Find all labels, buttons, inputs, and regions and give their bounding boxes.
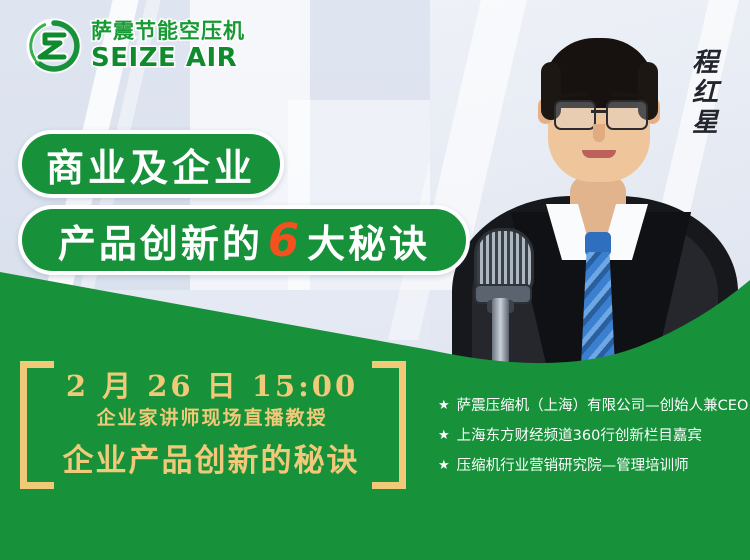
credential-item: ★ 上海东方财经频道360行创新栏目嘉宾 bbox=[438, 426, 743, 447]
bracket-left-stem bbox=[20, 361, 27, 489]
star-icon: ★ bbox=[438, 396, 450, 417]
star-icon: ★ bbox=[438, 426, 450, 447]
bracket-right-bottom-arm bbox=[372, 482, 406, 489]
brand-en-part-b: ZE AIR bbox=[139, 45, 237, 71]
event-datetime: 2 月 26 日 15:00 bbox=[62, 363, 362, 405]
brand-name-en: SEIZE AIR bbox=[91, 45, 245, 71]
credential-text: 压缩机行业营销研究院—管理培训师 bbox=[457, 456, 689, 477]
credential-text: 上海东方财经频道360行创新栏目嘉宾 bbox=[457, 426, 702, 447]
eyeglasses-bridge bbox=[591, 110, 608, 113]
bracket-left-bottom-arm bbox=[20, 482, 54, 489]
credential-item: ★ 压缩机行业营销研究院—管理培训师 bbox=[438, 456, 743, 477]
brand-en-part-i: I bbox=[129, 45, 139, 71]
event-details-block: 2 月 26 日 15:00 企业家讲师现场直播教授 企业产品创新的秘诀 bbox=[18, 355, 408, 495]
brand-en-part-a: SE bbox=[91, 45, 129, 71]
credential-text: 萨震压缩机（上海）有限公司—创始人兼CEO bbox=[457, 396, 749, 417]
headline-line-1: 商业及企业 bbox=[18, 130, 284, 198]
nose bbox=[593, 124, 605, 142]
eyeglasses-lens-right bbox=[606, 100, 648, 130]
star-icon: ★ bbox=[438, 456, 450, 477]
eyeglasses-lens-left bbox=[554, 100, 596, 130]
event-subtitle: 企业家讲师现场直播教授 bbox=[62, 403, 362, 430]
speaker-name-calligraphy: 程 红 星 bbox=[682, 50, 728, 136]
speaker-name-char: 程 bbox=[692, 50, 718, 76]
bracket-left-top-arm bbox=[20, 361, 54, 368]
bracket-right-top-arm bbox=[372, 361, 406, 368]
brand-wordmark: 萨震节能空压机 SEIZE AIR bbox=[91, 21, 245, 71]
event-topic: 企业产品创新的秘诀 bbox=[46, 435, 376, 480]
bracket-right bbox=[372, 361, 406, 489]
bracket-right-stem bbox=[399, 361, 406, 489]
speaker-name-char: 星 bbox=[692, 110, 718, 136]
promo-poster: 萨震节能空压机 SEIZE AIR 商业及企业 产品创新的6大秘诀 程 红 星 bbox=[0, 0, 750, 560]
seize-air-monogram-icon bbox=[26, 18, 82, 74]
mouth bbox=[582, 150, 616, 158]
speaker-name-char: 红 bbox=[692, 80, 718, 106]
speaker-credentials-list: ★ 萨震压缩机（上海）有限公司—创始人兼CEO ★ 上海东方财经频道360行创新… bbox=[438, 396, 743, 486]
brand-name-cn: 萨震节能空压机 bbox=[91, 21, 245, 42]
brand-logo[interactable]: 萨震节能空压机 SEIZE AIR bbox=[26, 18, 245, 74]
credential-item: ★ 萨震压缩机（上海）有限公司—创始人兼CEO bbox=[438, 396, 743, 417]
